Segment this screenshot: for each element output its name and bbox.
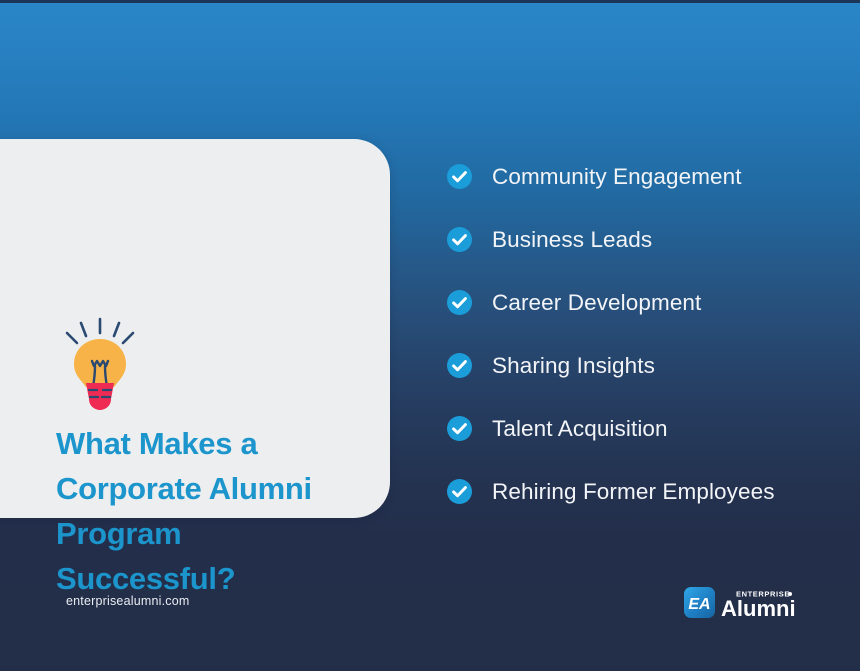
list-item: Sharing Insights	[447, 353, 847, 416]
list-item: Rehiring Former Employees	[447, 479, 847, 542]
list-item: Business Leads	[447, 227, 847, 290]
list-item-label: Talent Acquisition	[492, 412, 668, 445]
list-item-label: Sharing Insights	[492, 349, 655, 382]
info-card: What Makes a Corporate Alumni Program Su…	[0, 139, 390, 518]
site-url-text: enterprisealumni.com	[66, 594, 190, 608]
check-circle-icon	[447, 479, 472, 504]
enterprise-alumni-logo: EA ENTERPRISE Alumni	[684, 585, 796, 620]
check-circle-icon	[447, 290, 472, 315]
lightbulb-icon	[64, 317, 136, 411]
logo-main-word: Alumni	[721, 596, 796, 620]
list-item: Talent Acquisition	[447, 416, 847, 479]
check-circle-icon	[447, 164, 472, 189]
list-item-label: Career Development	[492, 286, 701, 319]
list-item-label: Community Engagement	[492, 160, 742, 193]
check-circle-icon	[447, 227, 472, 252]
page-title: What Makes a Corporate Alumni Program Su…	[56, 421, 356, 601]
poster-canvas: What Makes a Corporate Alumni Program Su…	[0, 0, 860, 671]
check-circle-icon	[447, 416, 472, 441]
logo-monogram: EA	[688, 596, 710, 613]
list-item-label: Business Leads	[492, 223, 652, 256]
check-circle-icon	[447, 353, 472, 378]
list-item: Community Engagement	[447, 164, 847, 227]
list-item-label: Rehiring Former Employees	[492, 475, 775, 508]
list-item: Career Development	[447, 290, 847, 353]
top-edge-strip	[0, 0, 860, 3]
benefits-checklist: Community Engagement Business Leads Care…	[447, 164, 847, 542]
